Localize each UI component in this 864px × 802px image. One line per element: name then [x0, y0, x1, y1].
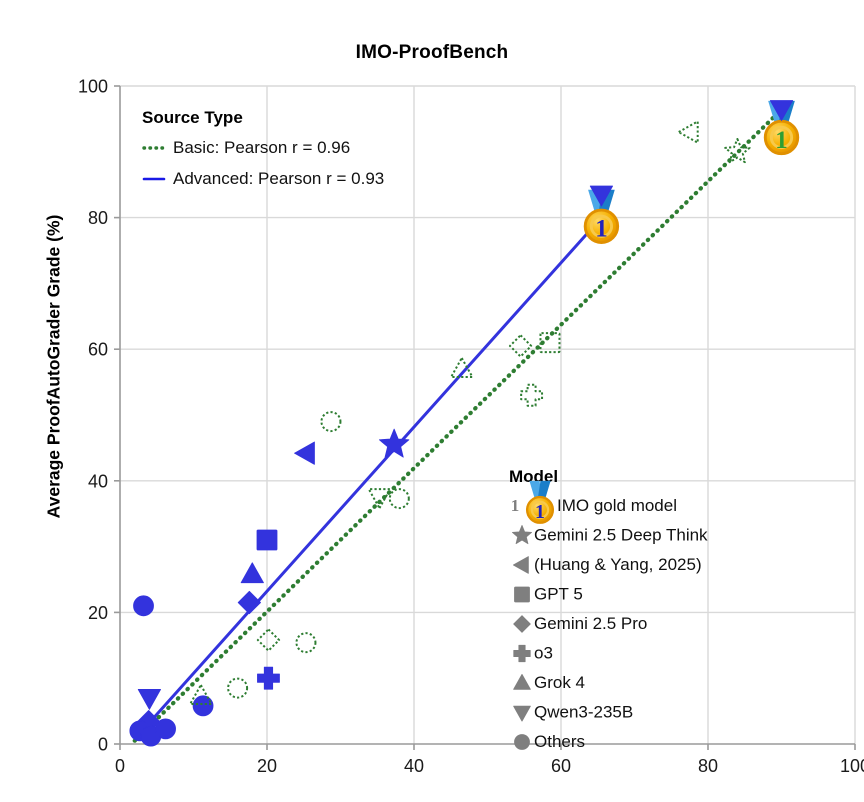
- data-point-square: [515, 587, 530, 602]
- model-legend-item-label: Grok 4: [534, 673, 585, 692]
- model-legend-item-label: Gemini 2.5 Deep Think: [534, 526, 708, 545]
- data-point-triangle-down: [138, 689, 160, 709]
- data-point-diamond: [510, 335, 531, 356]
- model-legend-item-label: IMO gold model: [557, 496, 677, 515]
- x-tick-label: 0: [115, 756, 125, 776]
- data-point-triangle-left: [294, 442, 314, 464]
- model-legend-item-label: Qwen3-235B: [534, 703, 633, 722]
- data-point-square: [257, 530, 277, 550]
- x-tick-label: 20: [257, 756, 277, 776]
- data-point-circle: [134, 596, 154, 616]
- model-legend-item-label: GPT 5: [534, 585, 583, 604]
- data-point-triangle-up: [514, 674, 531, 689]
- y-tick-label: 20: [88, 603, 108, 623]
- model-legend-item-label: (Huang & Yang, 2025): [534, 555, 702, 574]
- data-point-star: [379, 429, 409, 457]
- data-point-diamond: [258, 629, 279, 650]
- data-point-circle: [193, 696, 213, 716]
- data-point-circle: [515, 735, 530, 750]
- model-legend: Model11IMO gold modelGemini 2.5 Deep Thi…: [509, 467, 708, 751]
- source-legend-item-label: Basic: Pearson r = 0.96: [173, 138, 350, 157]
- data-point-triangle-up: [241, 563, 263, 583]
- trend-lines: [135, 102, 789, 740]
- data-point-circle: [321, 412, 340, 431]
- svg-text:1: 1: [535, 501, 545, 523]
- data-point-plus: [521, 385, 542, 406]
- data-point-circle: [296, 633, 315, 652]
- y-tick-label: 60: [88, 340, 108, 360]
- y-tick-label: 40: [88, 471, 108, 491]
- y-tick-label: 100: [78, 77, 108, 97]
- x-tick-label: 40: [404, 756, 424, 776]
- source-legend-item-label: Advanced: Pearson r = 0.93: [173, 169, 384, 188]
- model-legend-item-label: Gemini 2.5 Pro: [534, 614, 647, 633]
- data-point-diamond: [238, 591, 260, 613]
- chart-figure: IMO-ProofBench Average ProofAutoGrader G…: [0, 0, 864, 802]
- data-point-plus: [257, 667, 279, 689]
- source-legend-title: Source Type: [142, 108, 243, 127]
- data-point-triangle-down: [514, 706, 531, 721]
- source-type-legend: Source TypeBasic: Pearson r = 0.96Advanc…: [142, 108, 384, 188]
- data-point-plus: [514, 645, 531, 662]
- x-tick-label: 60: [551, 756, 571, 776]
- data-point-circle: [228, 679, 247, 698]
- legend-marker-numeral: 1: [511, 496, 520, 515]
- data-point-diamond: [514, 616, 531, 633]
- data-point-triangle-left: [513, 557, 528, 574]
- y-tick-label: 80: [88, 208, 108, 228]
- data-point-circle: [156, 719, 176, 739]
- scatter-plot: 020406080100020406080100 11 Source TypeB…: [0, 0, 864, 802]
- svg-text:1: 1: [775, 127, 787, 154]
- y-tick-label: 0: [98, 735, 108, 755]
- model-legend-item-label: o3: [534, 644, 553, 663]
- svg-text:1: 1: [595, 216, 607, 243]
- data-points: 11: [130, 101, 798, 747]
- data-point-triangle-left: [679, 121, 698, 142]
- model-legend-item-label: Others: [534, 732, 585, 751]
- x-tick-label: 80: [698, 756, 718, 776]
- data-point-star: [512, 525, 531, 543]
- trendline-basic: [135, 102, 789, 740]
- x-tick-label: 100: [840, 756, 864, 776]
- data-point-circle: [390, 489, 409, 508]
